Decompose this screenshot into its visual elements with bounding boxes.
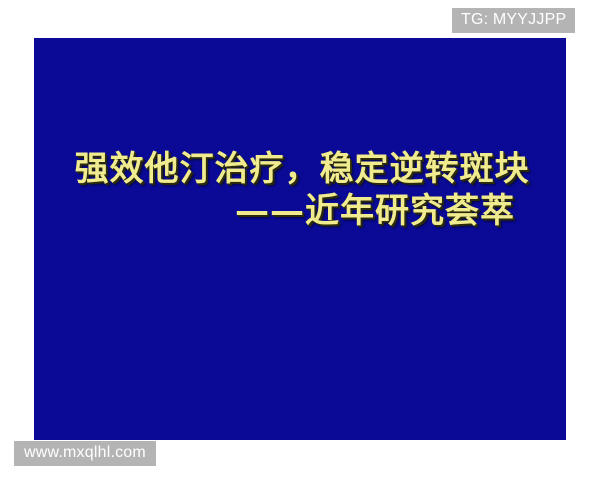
slide-title-line-2: ——近年研究荟萃 (34, 192, 566, 230)
presentation-slide: 强效他汀治疗，稳定逆转斑块 ——近年研究荟萃 (34, 38, 566, 440)
slide-title-line-1: 强效他汀治疗，稳定逆转斑块 (34, 150, 566, 188)
screenshot-canvas: 强效他汀治疗，稳定逆转斑块 ——近年研究荟萃 TG: MYYJJPP www.m… (0, 0, 600, 480)
telegram-channel-badge: TG: MYYJJPP (452, 8, 575, 33)
slide-title-block: 强效他汀治疗，稳定逆转斑块 ——近年研究荟萃 (34, 150, 566, 230)
site-watermark: www.mxqlhl.com (14, 441, 156, 466)
